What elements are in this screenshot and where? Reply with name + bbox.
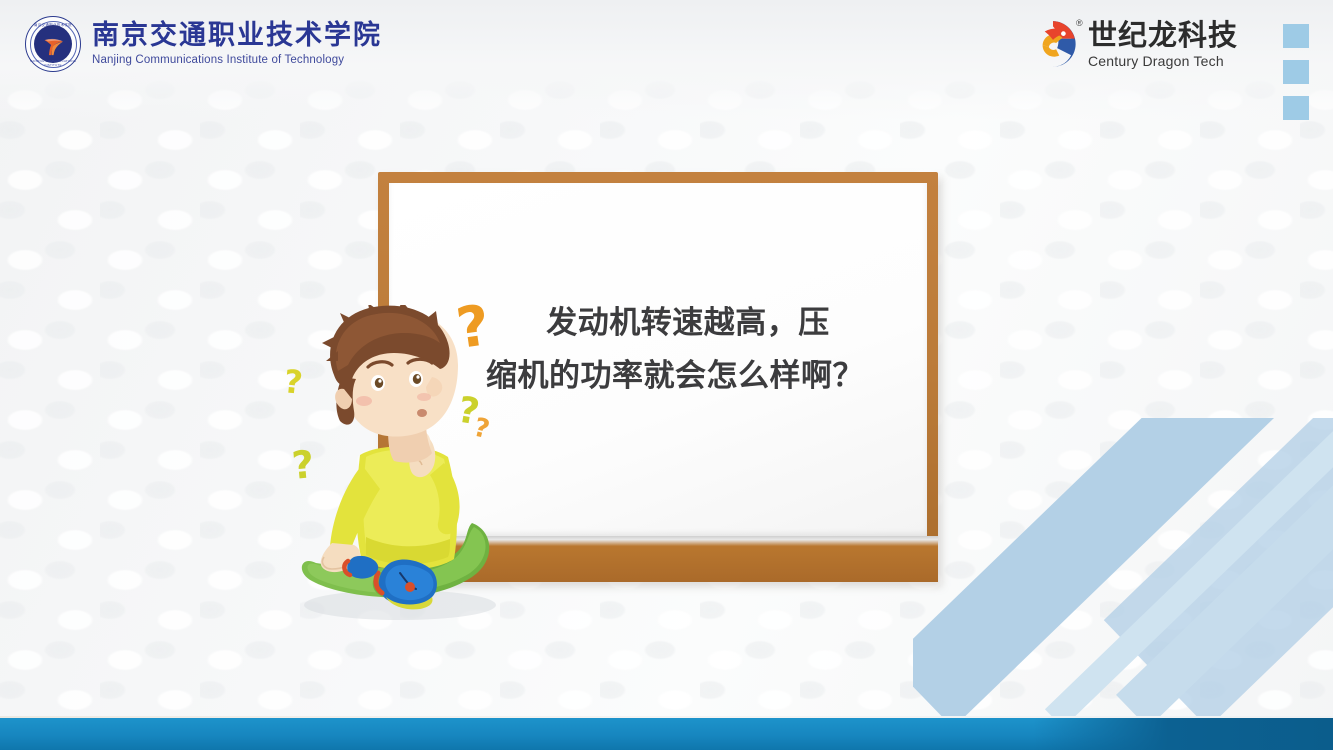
crest-ring-text-bottom: NANJING COMMUNICATIONS INSTITUTE [26, 59, 80, 67]
slide-canvas: 南京交通职业技术学院 NANJING COMMUNICATIONS INSTIT… [0, 0, 1333, 750]
bottom-accent-bar-dark-end [1033, 718, 1333, 750]
question-mark-icon: ? [282, 365, 304, 399]
school-name-en: Nanjing Communications Institute of Tech… [92, 55, 382, 67]
decorative-square [1283, 96, 1309, 120]
bottom-accent-bar [0, 718, 1333, 750]
school-name-cn: 南京交通职业技术学院 [92, 22, 382, 49]
decorative-square [1283, 60, 1309, 84]
corporate-name-en: Century Dragon Tech [1088, 54, 1238, 68]
corporate-name-block: ® 世纪龙科技 Century Dragon Tech [1088, 21, 1238, 68]
slide-header: 南京交通职业技术学院 NANJING COMMUNICATIONS INSTIT… [0, 0, 1333, 118]
corporate-logo: ® 世纪龙科技 Century Dragon Tech [1027, 18, 1238, 70]
century-dragon-mark-icon [1027, 18, 1079, 70]
school-logo: 南京交通职业技术学院 NANJING COMMUNICATIONS INSTIT… [25, 16, 382, 72]
school-name-block: 南京交通职业技术学院 Nanjing Communications Instit… [92, 22, 382, 67]
question-mark-icon: ? [290, 445, 315, 485]
corporate-name-cn: 世纪龙科技 [1088, 21, 1238, 50]
decorative-square-stack [1283, 24, 1309, 120]
school-crest-icon: 南京交通职业技术学院 NANJING COMMUNICATIONS INSTIT… [25, 16, 81, 72]
registered-trademark-icon: ® [1076, 19, 1083, 28]
crest-bird-icon [42, 34, 66, 56]
decorative-square [1283, 24, 1309, 48]
corner-ribbon-decoration [913, 418, 1333, 718]
